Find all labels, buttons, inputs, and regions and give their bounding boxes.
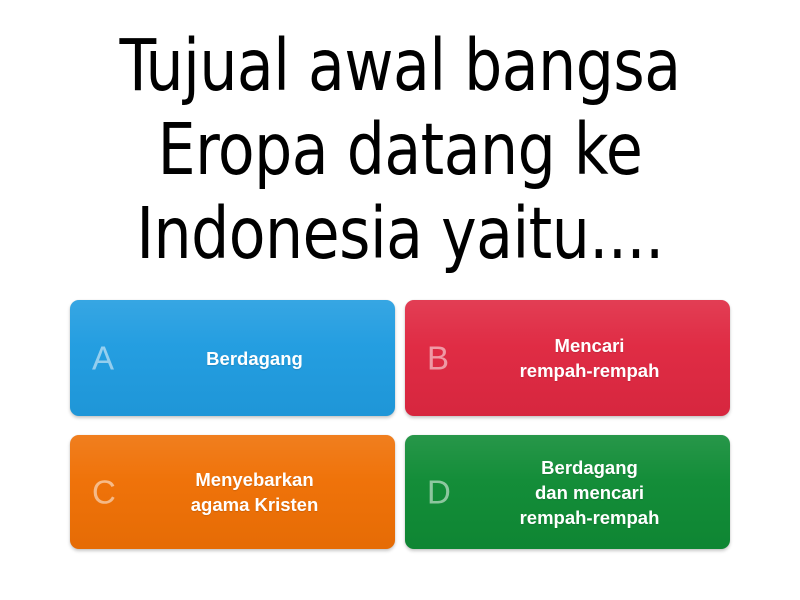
quiz-slide: Tujual awal bangsa Eropa datang ke Indon…: [0, 0, 800, 600]
answer-letter-b: B: [427, 342, 449, 375]
question-text: Tujual awal bangsa Eropa datang ke Indon…: [52, 24, 748, 276]
answer-options-grid: A Berdagang B Mencari rempah-rempah C Me…: [0, 300, 800, 589]
answer-label-a: Berdagang: [144, 346, 321, 371]
answer-option-c[interactable]: C Menyebarkan agama Kristen: [70, 435, 395, 549]
answer-label-b: Mencari rempah-rempah: [458, 333, 678, 383]
answer-label-c: Menyebarkan agama Kristen: [129, 467, 337, 517]
answer-option-d[interactable]: D Berdagang dan mencari rempah-rempah: [405, 435, 730, 549]
question-area: Tujual awal bangsa Eropa datang ke Indon…: [0, 0, 800, 300]
answer-label-d: Berdagang dan mencari rempah-rempah: [458, 455, 678, 530]
answer-letter-d: D: [427, 476, 451, 509]
answer-option-a[interactable]: A Berdagang: [70, 300, 395, 416]
answer-letter-c: C: [92, 476, 116, 509]
answer-option-b[interactable]: B Mencari rempah-rempah: [405, 300, 730, 416]
answer-letter-a: A: [92, 342, 114, 375]
